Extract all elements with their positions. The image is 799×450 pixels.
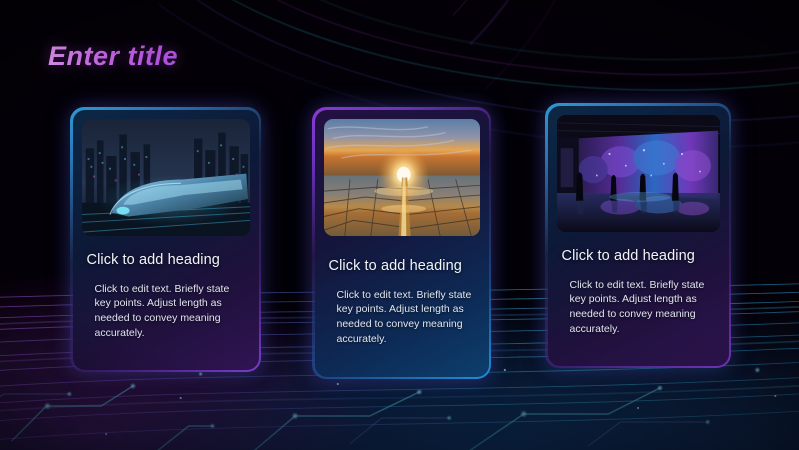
card-2-image [324, 119, 480, 236]
card-1-image [82, 119, 250, 236]
card-3-image [557, 115, 720, 232]
card-1-body: Click to edit text. Briefly state key po… [95, 282, 243, 342]
cards-row: Click to add heading Click to edit text.… [0, 0, 799, 450]
card-2-heading: Click to add heading [329, 258, 479, 274]
content-card-2[interactable]: Click to add heading Click to edit text.… [312, 107, 491, 379]
slide-canvas: Enter title [0, 0, 799, 450]
card-3-body: Click to edit text. Briefly state key po… [570, 278, 713, 338]
content-card-3[interactable]: Click to add heading Click to edit text.… [545, 103, 731, 368]
card-1-heading: Click to add heading [87, 252, 249, 268]
content-card-1[interactable]: Click to add heading Click to edit text.… [70, 107, 261, 372]
card-3-heading: Click to add heading [562, 248, 719, 264]
card-2-body: Click to edit text. Briefly state key po… [337, 288, 473, 348]
